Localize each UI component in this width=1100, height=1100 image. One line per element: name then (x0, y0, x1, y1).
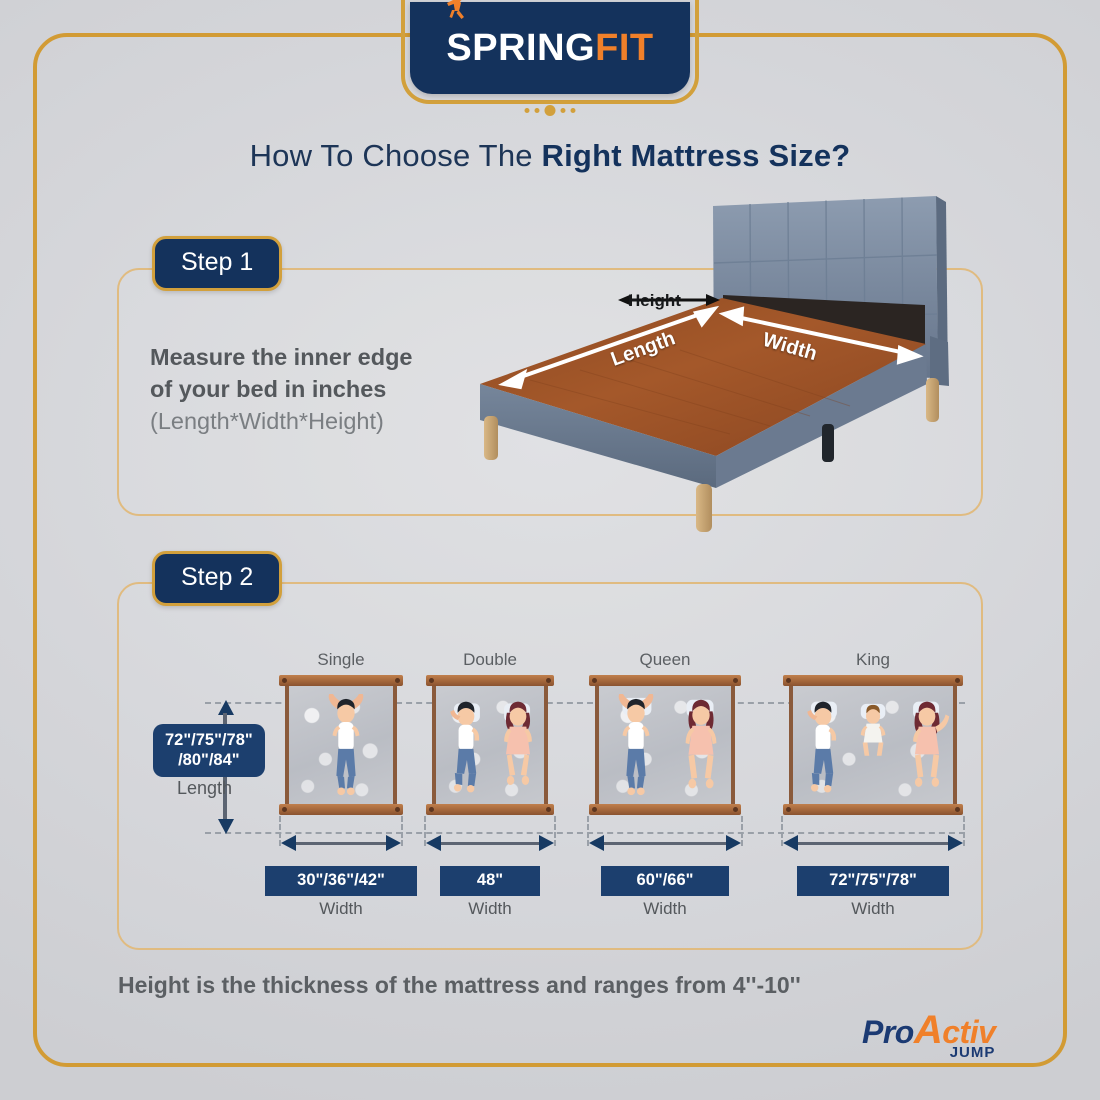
mattress-rail-top (589, 675, 741, 686)
page-title-bold: Right Mattress Size? (542, 138, 851, 173)
width-arrow-head-right (386, 835, 401, 851)
width-arrow-double (426, 836, 554, 850)
size-title-queen: Queen (595, 650, 735, 670)
width-caption-queen: Width (595, 899, 735, 919)
mattress-queen (595, 686, 735, 804)
width-value-single: 30"/36"/42" (265, 866, 417, 896)
sleeper-figure-man (799, 696, 847, 798)
width-guide-right-king (963, 816, 965, 846)
page-title: How To Choose The Right Mattress Size? (0, 138, 1100, 174)
step-2-badge: Step 2 (152, 551, 282, 606)
width-arrow-king (783, 836, 963, 850)
size-title-king: King (789, 650, 957, 670)
size-title-double: Double (432, 650, 548, 670)
step-1-badge: Step 1 (152, 236, 282, 291)
page-title-light: How To Choose The (250, 138, 542, 173)
logo-dot-ornament (525, 105, 576, 116)
width-arrow-bar (604, 842, 726, 845)
sleeper-figure-woman (675, 694, 727, 800)
bed-illustration: Height Length Width (470, 188, 980, 533)
logo-word-spring: SPRING (446, 27, 595, 70)
logo-text: SPRINGFIT (446, 27, 653, 70)
width-value-king: 72"/75"/78" (797, 866, 949, 896)
width-caption-king: Width (789, 899, 957, 919)
width-arrow-head-left (783, 835, 798, 851)
sleeper-figure-man (442, 696, 490, 798)
mattress-rail-top (783, 675, 963, 686)
step-1-line-1: Measure the inner edge (150, 341, 480, 373)
jumping-figure-icon (444, 0, 470, 21)
width-guide-right-double (554, 816, 556, 846)
mattress-rail-bottom (589, 804, 741, 815)
mattress-king (789, 686, 957, 804)
width-guide-right-queen (741, 816, 743, 846)
width-arrow-head-right (948, 835, 963, 851)
mattress-rail-bottom (279, 804, 403, 815)
width-arrow-bar (296, 842, 386, 845)
size-column-queen: Queen (595, 686, 735, 804)
sleeper-figure-woman (494, 696, 542, 798)
width-value-double: 48" (440, 866, 540, 896)
length-value-label: 72"/75"/78" /80"/84" (153, 724, 265, 777)
width-arrow-head-left (281, 835, 296, 851)
step-1-instruction: Measure the inner edge of your bed in in… (150, 341, 480, 437)
length-value-line-1: 72"/75"/78" (165, 730, 253, 750)
proactiv-logo: ProActiv JUMP (862, 1008, 995, 1061)
step-1-line-2: of your bed in inches (150, 373, 480, 405)
width-arrow-single (281, 836, 401, 850)
mattress-double (432, 686, 548, 804)
mattress-size-comparison: 72"/75"/78" /80"/84" Length Single (117, 582, 983, 950)
step-1-line-3: (Length*Width*Height) (150, 405, 480, 437)
width-guide-right-single (401, 816, 403, 846)
logo-plate: SPRINGFIT (410, 2, 690, 94)
infographic-canvas: SPRINGFIT How To Choose The Right Mattre… (0, 0, 1100, 1100)
logo-word-fit: FIT (595, 27, 653, 70)
proactiv-pro: Pro (862, 1014, 914, 1050)
sleeper-figure-man (317, 694, 375, 800)
length-value-line-2: /80"/84" (165, 750, 253, 770)
footer-note: Height is the thickness of the mattress … (118, 972, 801, 999)
bed-label-height: Height (628, 291, 681, 311)
width-arrow-head-left (426, 835, 441, 851)
size-column-single: Single (285, 686, 397, 804)
sleeper-figure-man (607, 694, 665, 800)
length-arrow-head-down (218, 819, 234, 834)
length-caption: Length (177, 778, 232, 799)
width-caption-double: Width (432, 899, 548, 919)
width-arrow-queen (589, 836, 741, 850)
mattress-rail-top (426, 675, 554, 686)
bed-svg (470, 188, 980, 533)
width-arrow-head-right (539, 835, 554, 851)
guide-line-bottom (205, 832, 965, 834)
mattress-rail-bottom (783, 804, 963, 815)
mattress-rail-bottom (426, 804, 554, 815)
brand-logo: SPRINGFIT (410, 2, 690, 94)
size-title-single: Single (285, 650, 397, 670)
width-arrow-head-right (726, 835, 741, 851)
mattress-single (285, 686, 397, 804)
width-arrow-bar (441, 842, 539, 845)
width-caption-single: Width (285, 899, 397, 919)
width-arrow-bar (798, 842, 948, 845)
sleeper-figure-woman (903, 696, 951, 798)
width-arrow-head-left (589, 835, 604, 851)
proactiv-a: A (914, 1008, 942, 1052)
width-value-queen: 60"/66" (601, 866, 729, 896)
mattress-rail-top (279, 675, 403, 686)
sleeper-figure-baby (855, 702, 893, 768)
size-column-king: King (789, 686, 957, 804)
size-column-double: Double (432, 686, 548, 804)
